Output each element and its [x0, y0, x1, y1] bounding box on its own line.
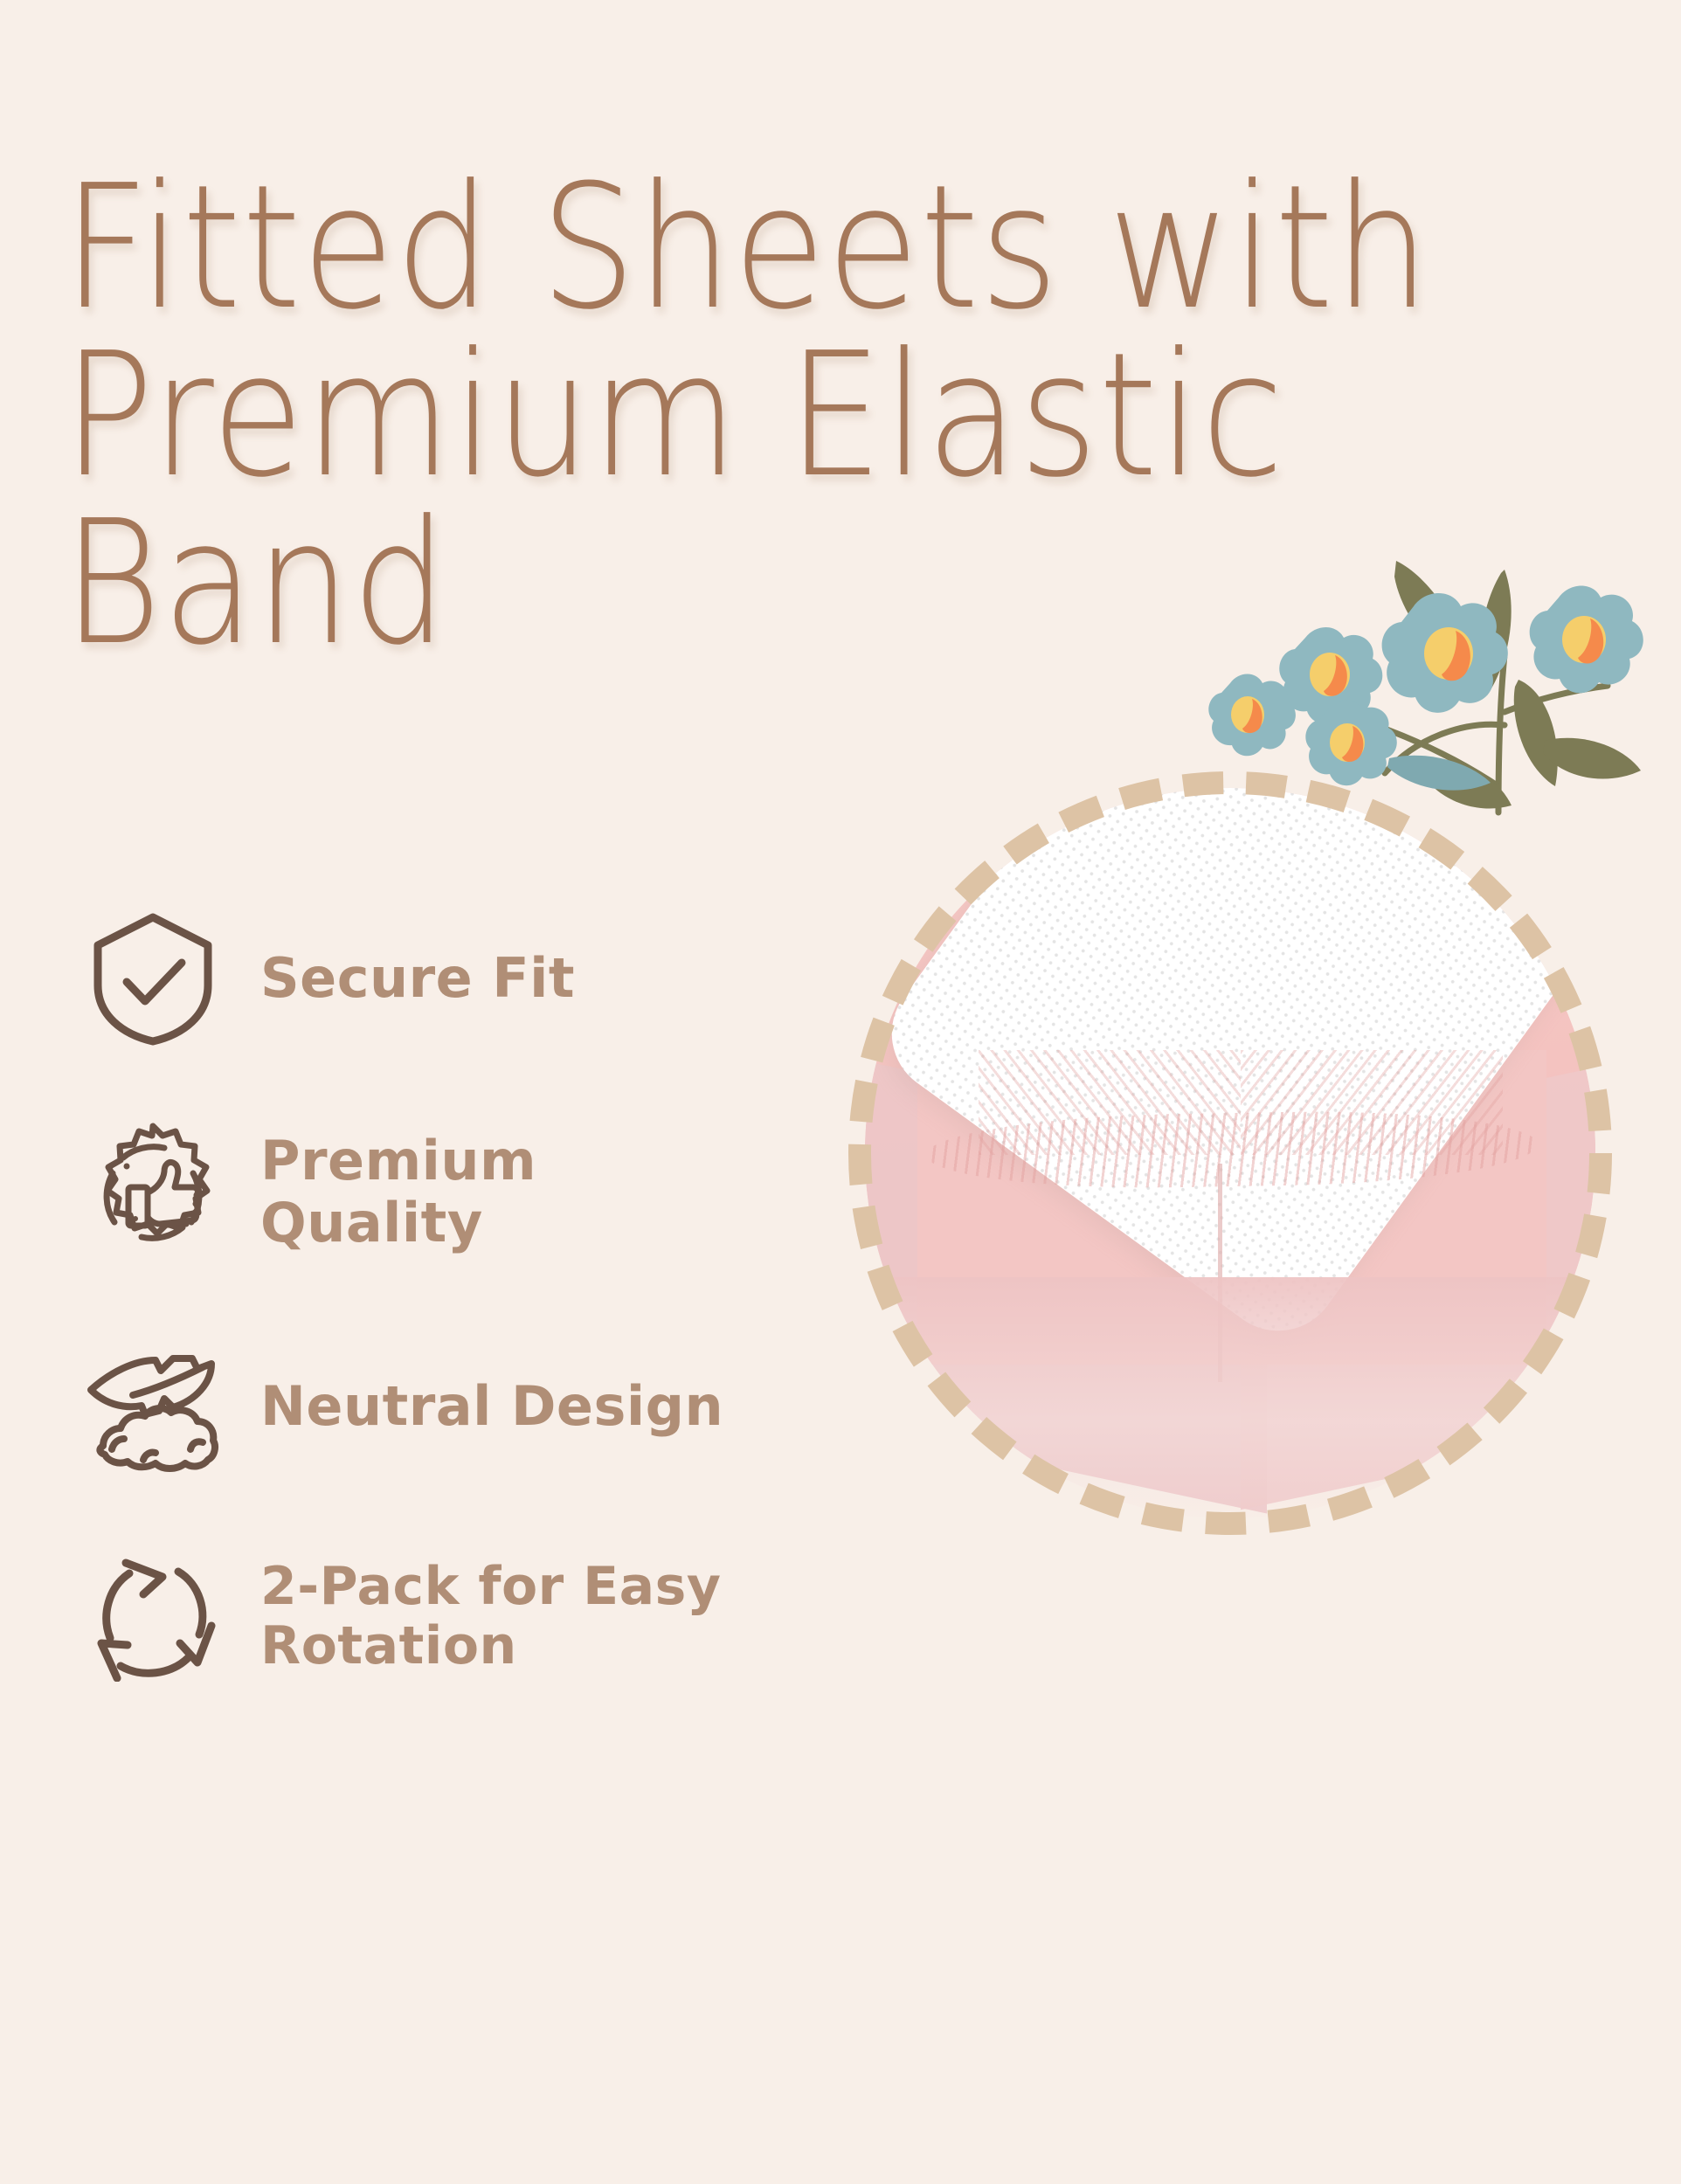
- feature-label-two-pack-rotation: 2-Pack for Easy Rotation: [260, 1557, 996, 1676]
- feature-label-line: Secure Fit: [260, 948, 575, 1010]
- feature-label-line: Quality: [260, 1192, 536, 1254]
- feature-item-secure-fit: Secure Fit: [70, 874, 996, 1083]
- title-line-2: Premium Elastic: [63, 332, 1078, 500]
- title-line-3: Band: [63, 500, 1078, 667]
- infographic-page: Fitted Sheets with Premium Elastic Band: [0, 0, 1681, 2184]
- shield-check-icon: [70, 909, 236, 1048]
- page-title: Fitted Sheets with Premium Elastic Band: [63, 164, 1216, 667]
- feature-item-neutral-design: Neutral Design: [70, 1302, 996, 1511]
- rotation-arrows-icon: [70, 1551, 236, 1682]
- feature-label-premium-quality: Premium Quality: [260, 1130, 536, 1254]
- feature-label-line: Premium: [260, 1130, 536, 1192]
- feature-label-neutral-design: Neutral Design: [260, 1376, 723, 1438]
- feature-item-two-pack-rotation: 2-Pack for Easy Rotation: [70, 1511, 996, 1721]
- feature-list: Secure Fit Premium: [70, 874, 996, 1721]
- feature-label-secure-fit: Secure Fit: [260, 948, 575, 1010]
- quality-badge-thumbs-up-icon: [70, 1121, 236, 1264]
- feature-label-line: 2-Pack for Easy Rotation: [260, 1557, 996, 1676]
- feature-item-premium-quality: Premium Quality: [70, 1083, 996, 1302]
- feature-label-line: Neutral Design: [260, 1376, 723, 1438]
- title-line-1: Fitted Sheets with: [63, 164, 1078, 332]
- feather-cloud-icon: [70, 1341, 236, 1472]
